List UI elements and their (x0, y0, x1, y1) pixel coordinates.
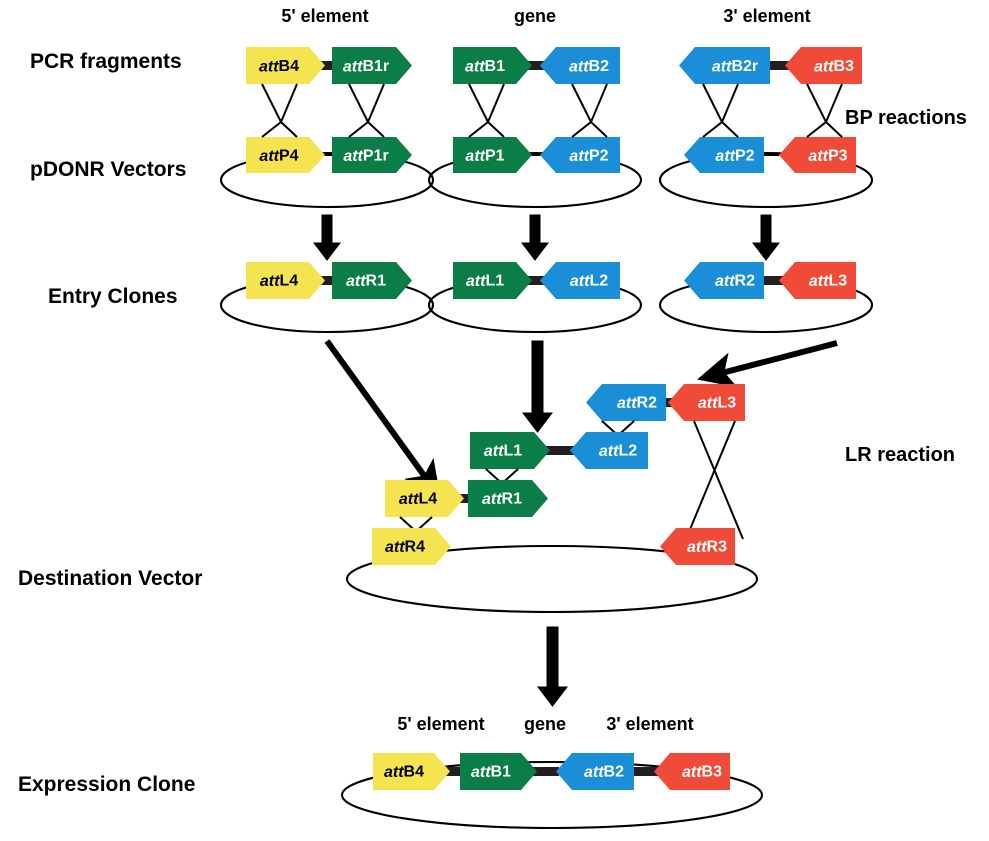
site-donr-attP3: attP3 (779, 137, 856, 173)
figure-canvas: PCR fragments pDONR Vectors Entry Clones… (0, 0, 989, 841)
site-expr-attB4: attB4 (373, 753, 450, 790)
site-label: attL2 (570, 273, 608, 290)
site-label: attL4 (260, 273, 298, 290)
recombination-x (469, 84, 504, 122)
site-label: attB3 (682, 764, 722, 781)
site-label: attP1r (343, 148, 388, 165)
lr-arrow-from-left-entry (327, 341, 428, 481)
site-label: attB3 (814, 58, 854, 75)
site-label: attR2 (715, 273, 755, 290)
site-label: attB2 (584, 764, 624, 781)
site-pcr-attB4: attB4 (246, 47, 325, 84)
site-lr-attL2: attL2 (570, 432, 648, 469)
recombination-x (262, 122, 297, 137)
recombination-x (703, 122, 738, 137)
lr-arrow-from-gene-entry (523, 341, 552, 432)
recombination-x (807, 84, 842, 122)
site-label: attB4 (384, 764, 424, 781)
entry-clone-3-element: attR2 attL3 (660, 262, 872, 332)
site-pcr-attB3: attB3 (785, 47, 862, 84)
expression-clone-arrow (538, 627, 567, 706)
site-label: attB1 (465, 58, 505, 75)
site-entry-attL4: attL4 (246, 262, 325, 299)
site-lr-attR3: attR3 (660, 528, 735, 565)
site-entry-attR2: attR2 (684, 262, 764, 299)
site-expr-attB1: attB1 (460, 753, 537, 790)
site-label: attR1 (482, 491, 522, 508)
header-gene-bottom: gene (524, 714, 566, 734)
site-lr-attL1: attL1 (470, 432, 550, 469)
pcr-fragment-3-element: attB2r attB3 (679, 47, 862, 122)
bp-reaction-arrows (314, 215, 779, 260)
site-label: attR4 (385, 539, 425, 556)
recombination-x (469, 122, 504, 137)
header-3-element-bottom: 3' element (606, 714, 693, 734)
bp-arrow-3-element (753, 215, 779, 260)
row-label-pdonr-vectors: pDONR Vectors (30, 158, 186, 181)
site-label: attL3 (809, 273, 847, 290)
site-label: attP3 (808, 148, 847, 165)
site-label: attP1 (465, 148, 504, 165)
recombination-x (572, 122, 607, 137)
site-lr-attR4: attR4 (372, 528, 451, 565)
lr-arrow-from-right-entry (718, 343, 837, 374)
row-label-expression-clone: Expression Clone (18, 773, 195, 796)
site-donr-attP1r: attP1r (332, 137, 412, 173)
destination-vector-plasmid: attR4 attR3 (347, 528, 757, 612)
site-label: attL4 (399, 491, 437, 508)
site-label: attB2 (569, 58, 609, 75)
site-donr-attP2: attP2 (540, 137, 620, 173)
site-label: attP2 (569, 148, 608, 165)
recombination-x (807, 122, 842, 137)
site-entry-attL1: attL1 (453, 262, 532, 299)
site-donr-attP4: attP4 (246, 137, 325, 173)
recombination-x (703, 84, 738, 122)
site-pcr-attB1r: attB1r (332, 47, 412, 84)
site-lr-attL4: attL4 (385, 480, 464, 517)
site-label: attL1 (466, 273, 504, 290)
site-entry-attL3: attL3 (779, 262, 856, 299)
site-label: attL1 (484, 443, 522, 460)
header-3-element-top: 3' element (723, 6, 810, 26)
bp-arrow-gene (522, 215, 548, 260)
site-label: attB2r (712, 58, 758, 75)
side-label-lr-reaction: LR reaction (845, 444, 955, 466)
row-label-pcr-fragments: PCR fragments (30, 50, 182, 73)
pdonr-vector-5-element: attP4 attP1r (221, 122, 433, 207)
row-label-destination-vector: Destination Vector (18, 567, 202, 590)
site-lr-attL3: attL3 (668, 384, 745, 421)
site-pcr-attB1: attB1 (453, 47, 532, 84)
site-donr-attP1: attP1 (453, 137, 532, 173)
site-label: attL2 (599, 443, 637, 460)
site-label: attB1 (471, 764, 511, 781)
bp-arrow-5-element (314, 215, 340, 260)
entry-clone-5-element: attL4 attR1 (221, 262, 433, 332)
recombination-x-long (686, 421, 743, 539)
pdonr-vector-gene: attP1 attP2 (429, 122, 641, 207)
side-label-bp-reactions: BP reactions (845, 107, 967, 129)
pcr-fragment-gene: attB1 attB2 (453, 47, 620, 122)
site-label: attR3 (687, 539, 727, 556)
site-lr-attR1: attR1 (468, 480, 548, 517)
entry-clone-gene: attL1 attL2 (429, 262, 641, 332)
pcr-fragment-5-element: attB4 attB1r (246, 47, 412, 122)
site-donr-attP2b: attP2 (684, 137, 764, 173)
site-lr-attR2: attR2 (586, 384, 666, 421)
site-pcr-attB2: attB2 (540, 47, 620, 84)
pdonr-vector-3-element: attP2 attP3 (660, 122, 872, 207)
site-label: attR1 (346, 273, 386, 290)
recombination-x (572, 84, 607, 122)
site-entry-attR1: attR1 (332, 262, 412, 299)
linker-bar (630, 767, 658, 776)
expression-clone-plasmid: attB4 attB1 attB2 attB3 (342, 753, 762, 828)
site-entry-attL2: attL2 (540, 262, 620, 299)
header-5-element-bottom: 5' element (397, 714, 484, 734)
site-label: attL3 (698, 395, 736, 412)
recombination-x (349, 122, 384, 137)
header-gene-top: gene (514, 6, 556, 26)
row-label-entry-clones: Entry Clones (48, 285, 178, 308)
site-label: attP4 (259, 148, 298, 165)
header-5-element-top: 5' element (281, 6, 368, 26)
site-expr-attB2: attB2 (556, 753, 634, 790)
site-label: attR2 (617, 395, 657, 412)
gateway-cloning-diagram: PCR fragments pDONR Vectors Entry Clones… (0, 0, 989, 841)
site-label: attB1r (343, 58, 389, 75)
site-expr-attB3: attB3 (654, 753, 730, 790)
recombination-x (349, 84, 384, 122)
recombination-x (262, 84, 297, 122)
site-label: attB4 (259, 58, 299, 75)
site-pcr-attB2r: attB2r (679, 47, 770, 84)
site-label: attP2 (715, 148, 754, 165)
